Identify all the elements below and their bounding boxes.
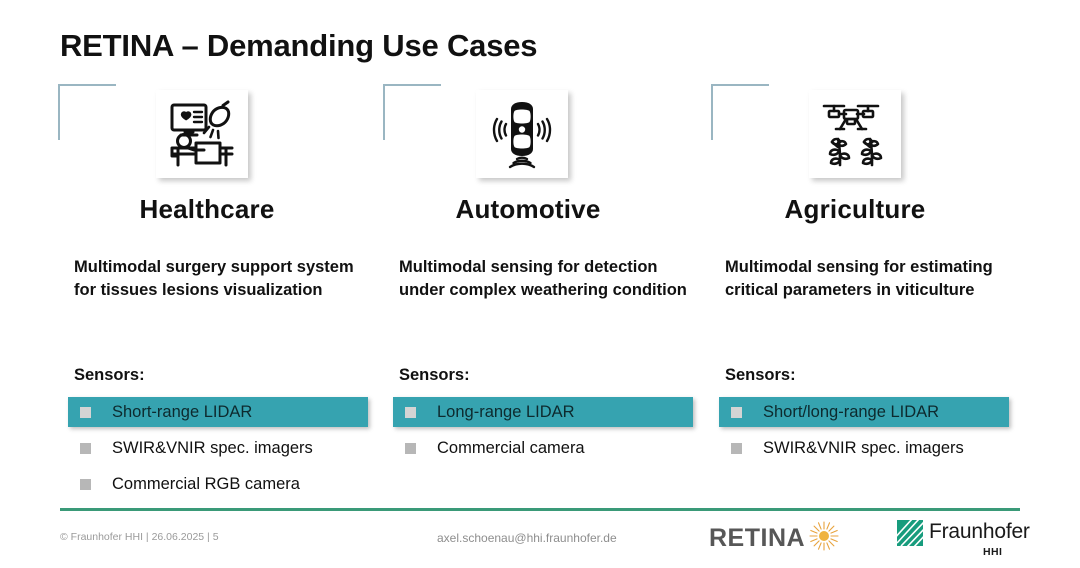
bullet-square-icon <box>405 407 416 418</box>
bullet-square-icon <box>405 443 416 454</box>
footer-divider <box>60 508 1020 511</box>
sensor-list: Short/long-range LIDAR SWIR&VNIR spec. i… <box>719 397 1009 469</box>
sensor-list: Short-range LIDAR SWIR&VNIR spec. imager… <box>68 397 368 505</box>
use-case-columns: Healthcare Multimodal surgery support sy… <box>0 84 1080 494</box>
slide-title: RETINA – Demanding Use Cases <box>60 28 537 64</box>
retina-logo: RETINA <box>709 521 839 556</box>
sensor-label: Short/long-range LIDAR <box>763 403 939 422</box>
agriculture-drone-plants-icon <box>809 90 901 178</box>
sensor-label: SWIR&VNIR spec. imagers <box>112 439 313 458</box>
healthcare-surgery-icon <box>156 90 248 178</box>
sun-starburst-icon <box>809 521 839 556</box>
sensor-list-item[interactable]: Short/long-range LIDAR <box>719 397 1009 427</box>
use-case-column-agriculture: Agriculture Multimodal sensing for estim… <box>711 84 1036 494</box>
sensor-label: Commercial RGB camera <box>112 475 300 494</box>
bullet-square-icon <box>731 443 742 454</box>
fraunhofer-institute-label: HHI <box>983 546 1002 558</box>
sensor-list-item[interactable]: Commercial RGB camera <box>68 469 368 499</box>
footer-email: axel.schoenau@hhi.fraunhofer.de <box>437 531 617 545</box>
bullet-square-icon <box>80 443 91 454</box>
automotive-car-sensors-icon <box>476 90 568 178</box>
corner-bracket-icon <box>58 84 116 140</box>
use-case-column-healthcare: Healthcare Multimodal surgery support sy… <box>58 84 383 494</box>
fraunhofer-logo: Fraunhofer HHI <box>897 519 1022 561</box>
retina-wordmark: RETINA <box>709 524 805 553</box>
sensor-list-item[interactable]: Commercial camera <box>393 433 693 463</box>
sensor-label: SWIR&VNIR spec. imagers <box>763 439 964 458</box>
bullet-square-icon <box>80 407 91 418</box>
sensor-list-item[interactable]: Long-range LIDAR <box>393 397 693 427</box>
sensor-list: Long-range LIDAR Commercial camera <box>393 397 693 469</box>
corner-bracket-icon <box>711 84 769 140</box>
fraunhofer-stripes-icon <box>897 520 923 546</box>
sensor-list-item[interactable]: SWIR&VNIR spec. imagers <box>68 433 368 463</box>
column-heading: Automotive <box>383 194 673 225</box>
column-description: Multimodal surgery support system for ti… <box>74 256 364 303</box>
footer-copyright: © Fraunhofer HHI | 26.06.2025 | 5 <box>60 531 219 543</box>
sensor-list-item[interactable]: SWIR&VNIR spec. imagers <box>719 433 1009 463</box>
sensor-label: Commercial camera <box>437 439 585 458</box>
use-case-column-automotive: Automotive Multimodal sensing for detect… <box>383 84 708 494</box>
sensors-label: Sensors: <box>725 366 796 385</box>
column-description: Multimodal sensing for estimating critic… <box>725 256 1025 303</box>
sensor-list-item[interactable]: Short-range LIDAR <box>68 397 368 427</box>
sensor-label: Long-range LIDAR <box>437 403 575 422</box>
bullet-square-icon <box>731 407 742 418</box>
corner-bracket-icon <box>383 84 441 140</box>
sensor-label: Short-range LIDAR <box>112 403 252 422</box>
column-heading: Healthcare <box>58 194 356 225</box>
sensors-label: Sensors: <box>74 366 145 385</box>
column-heading: Agriculture <box>711 194 999 225</box>
column-description: Multimodal sensing for detection under c… <box>399 256 689 303</box>
sensors-label: Sensors: <box>399 366 470 385</box>
fraunhofer-wordmark: Fraunhofer <box>929 520 1030 544</box>
bullet-square-icon <box>80 479 91 490</box>
